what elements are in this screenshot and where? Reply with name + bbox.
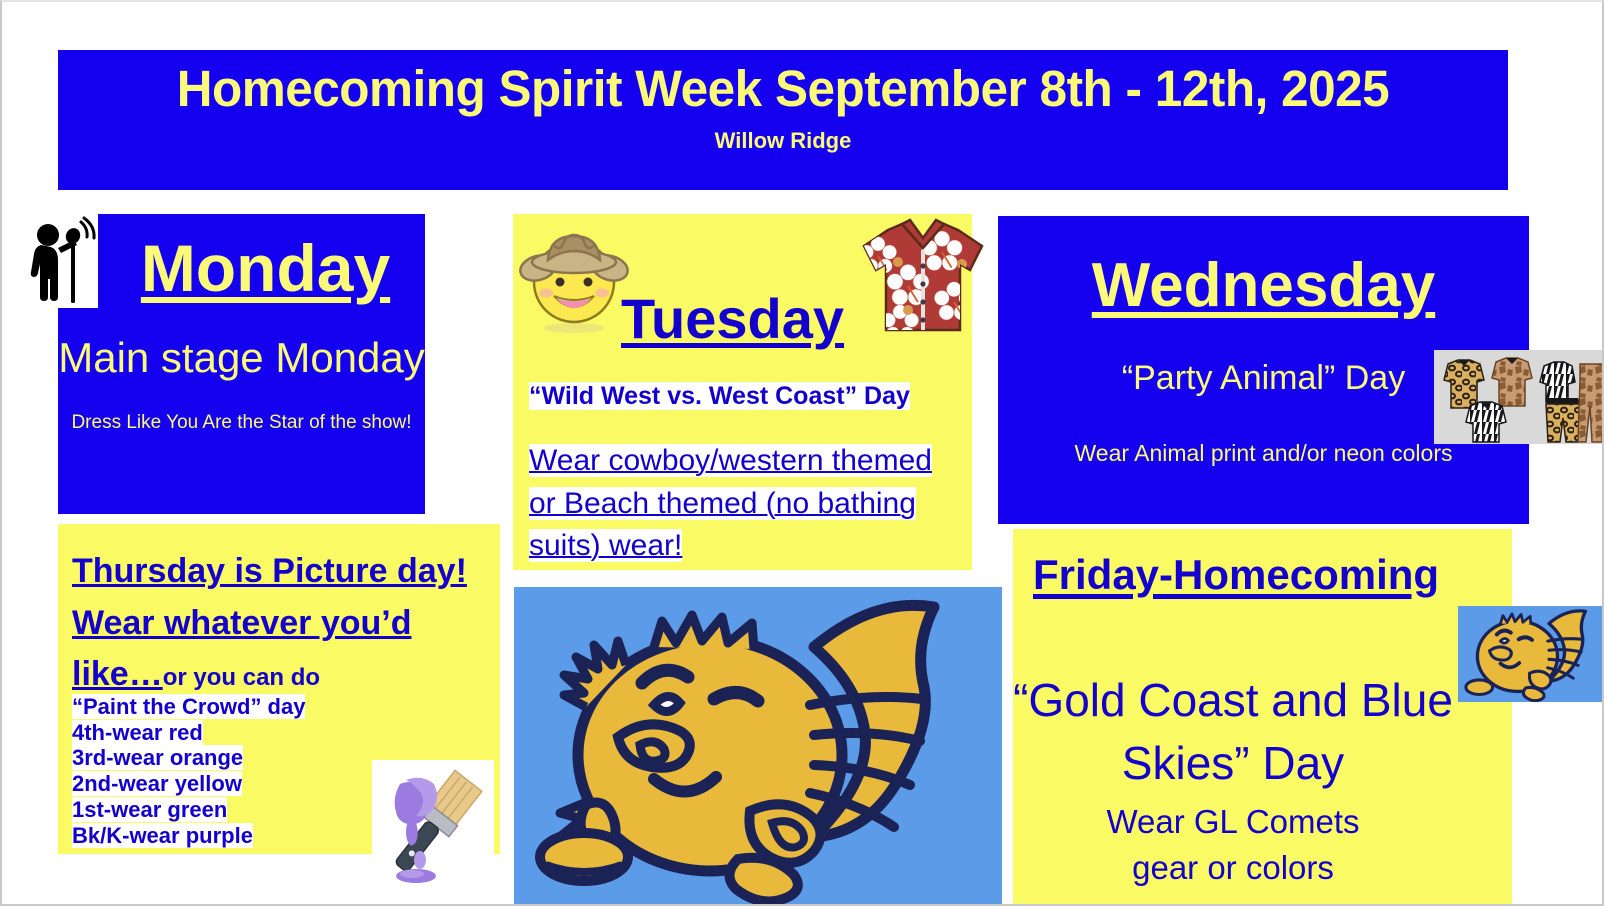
tuesday-heading: Tuesday <box>621 286 844 351</box>
friday-instruction-line1: Wear GL Comets <box>1013 799 1453 845</box>
friday-theme: “Gold Coast and Blue Skies” Day <box>1013 669 1453 796</box>
monday-heading: Monday <box>106 230 425 306</box>
list-item: 3rd-wear orange <box>72 745 305 771</box>
monday-theme: Main stage Monday <box>58 334 425 382</box>
thursday-heading-tail: or you can do <box>163 664 320 691</box>
friday-instruction: Wear GL Comets gear or colors <box>1013 799 1453 890</box>
spirit-week-poster: Homecoming Spirit Week September 8th - 1… <box>0 0 1604 906</box>
thursday-color-list: “Paint the Crowd” day 4th-wear red 3rd-w… <box>72 694 305 848</box>
animal-print-clothing-icon <box>1434 350 1604 444</box>
singer-microphone-icon <box>24 214 98 308</box>
list-item: “Paint the Crowd” day <box>72 694 305 720</box>
thursday-heading: Thursday is Picture day! Wear whatever y… <box>72 546 486 701</box>
list-item: 2nd-wear yellow <box>72 771 305 797</box>
comet-mascot-image <box>514 587 1002 906</box>
list-item: Bk/K-wear purple <box>72 823 305 849</box>
paint-brush-icon <box>372 760 494 886</box>
tuesday-theme: “Wild West vs. West Coast” Day <box>529 382 910 411</box>
friday-panel: Friday-Homecoming “Gold Coast and Blue S… <box>1013 529 1512 906</box>
monday-panel: Monday Main stage Monday Dress Like You … <box>58 214 425 514</box>
wednesday-instruction: Wear Animal print and/or neon colors <box>998 440 1529 467</box>
friday-instruction-line2: gear or colors <box>1013 845 1453 891</box>
wednesday-heading: Wednesday <box>998 250 1529 321</box>
tuesday-instruction: Wear cowboy/western themed or Beach them… <box>529 440 949 568</box>
list-item: 4th-wear red <box>72 720 305 746</box>
cowboy-emoji-icon <box>512 220 636 338</box>
page-title: Homecoming Spirit Week September 8th - 1… <box>80 62 1487 116</box>
comet-mascot-icon <box>1458 606 1604 702</box>
list-item: 1st-wear green <box>72 797 305 823</box>
school-name: Willow Ridge <box>58 128 1508 154</box>
monday-instruction: Dress Like You Are the Star of the show! <box>58 412 425 434</box>
title-banner: Homecoming Spirit Week September 8th - 1… <box>58 50 1508 190</box>
friday-heading: Friday-Homecoming <box>1033 551 1439 599</box>
hawaiian-shirt-icon <box>858 214 988 336</box>
